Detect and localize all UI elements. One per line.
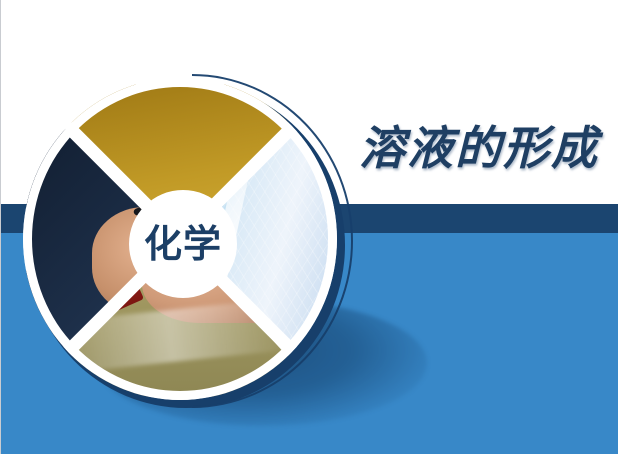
slide-title: 溶液的形成 — [359, 112, 599, 178]
circular-photo-collage: 化学 — [23, 78, 349, 412]
slide-canvas: 化学 溶液的形成 — [0, 0, 618, 454]
disc-body: 化学 — [23, 78, 337, 400]
subject-badge-label: 化学 — [144, 225, 222, 263]
subject-badge: 化学 — [129, 190, 237, 298]
